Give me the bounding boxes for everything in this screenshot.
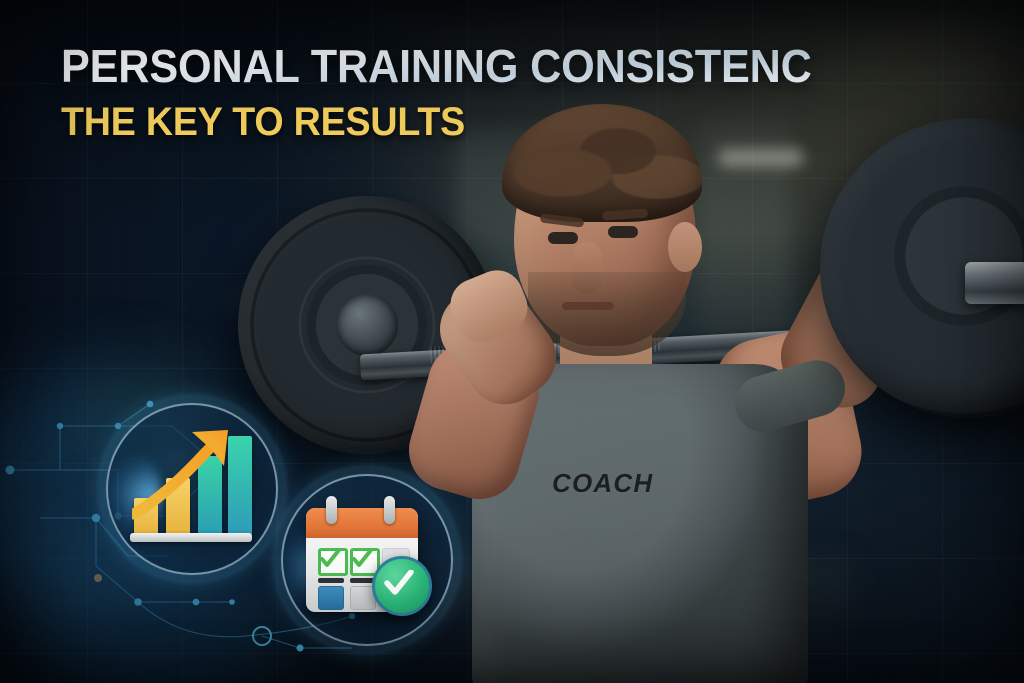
calendar-ring-left [326, 496, 337, 524]
fitness-promo-banner: COACH [0, 0, 1024, 683]
athlete-ear [668, 222, 702, 272]
chart-baseline [130, 533, 252, 542]
calendar-check-icon [300, 494, 430, 622]
growth-arrow-icon [132, 428, 254, 532]
athlete-eye-right [608, 226, 638, 238]
badge-check-icon [384, 570, 414, 597]
page-title: PERSONAL TRAINING CONSISTENCY [61, 40, 813, 92]
growth-chart-icon [128, 424, 254, 550]
barbell-collar [965, 262, 1024, 304]
athlete-eye-left [548, 232, 578, 244]
calendar-cell-blue [318, 586, 344, 610]
calendar-line-1 [318, 578, 344, 583]
athlete-mouth [562, 302, 614, 310]
headline-block: PERSONAL TRAINING CONSISTENCY THE KEY TO… [61, 40, 861, 144]
calendar-header [306, 508, 418, 538]
calendar-check-mark-2 [352, 549, 373, 569]
calendar-ring-right [384, 496, 395, 524]
shirt-coach-text: COACH [552, 468, 653, 499]
calendar-check-mark-1 [320, 549, 341, 569]
page-subtitle: THE KEY TO RESULTS [61, 100, 813, 144]
